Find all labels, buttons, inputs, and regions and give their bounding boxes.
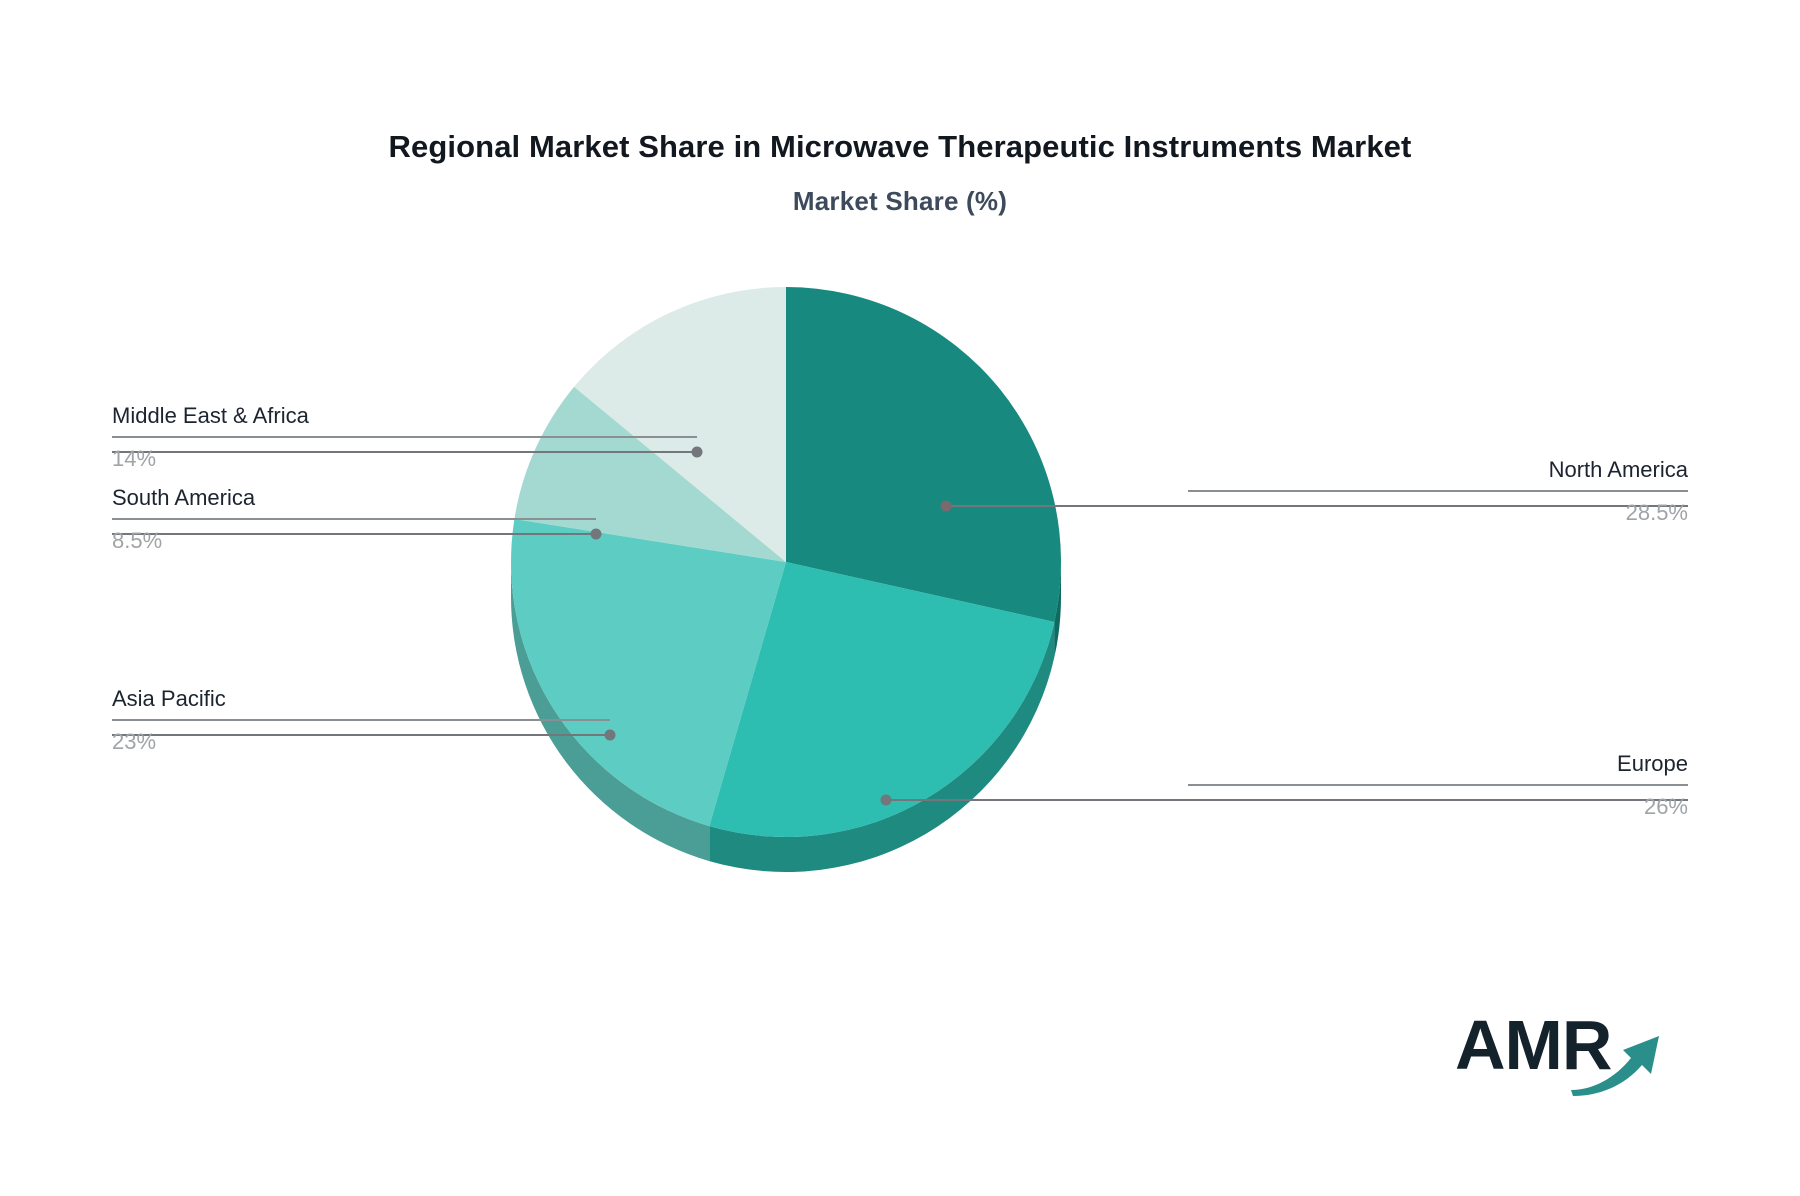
growth-arrow-icon: [1567, 1006, 1667, 1098]
callout-label-middle-east-africa: Middle East & Africa: [112, 402, 697, 436]
callout-asia-pacific[interactable]: Asia Pacific 23%: [112, 685, 610, 755]
callout-label-europe: Europe: [1188, 750, 1688, 784]
pie-slice-north-america[interactable]: [786, 287, 1061, 622]
callout-value-middle-east-africa: 14%: [112, 438, 697, 473]
callout-value-europe: 26%: [1188, 786, 1688, 821]
amr-logo: AMR: [1455, 1000, 1665, 1096]
pie-side-north-america: [1054, 562, 1061, 657]
callout-middle-east-africa[interactable]: Middle East & Africa 14%: [112, 402, 697, 472]
callout-value-asia-pacific: 23%: [112, 721, 610, 756]
callout-north-america[interactable]: North America 28.5%: [1188, 456, 1688, 526]
chart-canvas: Regional Market Share in Microwave Thera…: [0, 0, 1800, 1196]
callout-value-south-america: 8.5%: [112, 520, 596, 555]
title-block: Regional Market Share in Microwave Thera…: [0, 128, 1800, 217]
leader-dot-north-america: [941, 501, 952, 512]
callout-south-america[interactable]: South America 8.5%: [112, 484, 596, 554]
callout-europe[interactable]: Europe 26%: [1188, 750, 1688, 820]
pie-side-europe: [709, 622, 1054, 872]
callout-value-north-america: 28.5%: [1188, 492, 1688, 527]
pie-leader-dots: [591, 447, 952, 806]
callout-label-south-america: South America: [112, 484, 596, 518]
callout-label-asia-pacific: Asia Pacific: [112, 685, 610, 719]
chart-subtitle: Market Share (%): [0, 186, 1800, 217]
leader-dot-europe: [881, 795, 892, 806]
pie-slice-europe[interactable]: [709, 562, 1054, 837]
pie-slice-asia-pacific[interactable]: [511, 519, 786, 826]
callout-label-north-america: North America: [1188, 456, 1688, 490]
chart-title: Regional Market Share in Microwave Thera…: [0, 128, 1800, 165]
